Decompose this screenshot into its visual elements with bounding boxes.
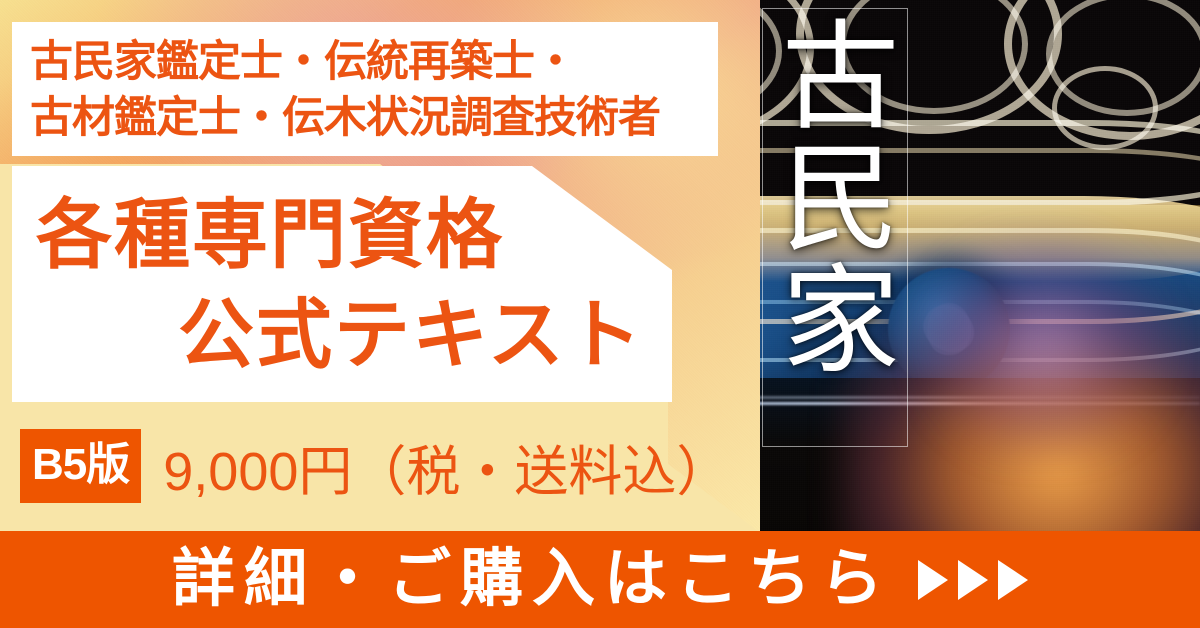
cta-arrow-group [918,560,1028,600]
certifications-panel: 古民家鑑定士・伝統再築士・ 古材鑑定士・伝木状況調査技術者 [12,22,718,156]
size-badge: B5版 [20,429,141,503]
triangle-right-icon [918,560,948,600]
cta-label: 詳細・ご購入はこちら [172,548,892,611]
headline-panel: 各種専門資格 公式テキスト [12,166,672,402]
promo-banner: 古民家 伝統構法 古民家活用のための調査と再生の 古民家鑑定士・伝統再築士・ 古… [0,0,1200,628]
certifications-line-2: 古材鑑定士・伝木状況調査技術者 [30,90,660,146]
cover-title: 古民家 [768,14,900,380]
triangle-right-icon [958,560,988,600]
headline-line-1: 各種専門資格 [36,190,504,282]
price-row: B5版 9,000円（税・送料込） [20,430,730,502]
headline-line-2: 公式テキスト [178,290,644,382]
cta-bar[interactable]: 詳細・ご購入はこちら [0,531,1200,628]
triangle-right-icon [998,560,1028,600]
price-text: 9,000円（税・送料込） [163,427,730,506]
certifications-line-1: 古民家鑑定士・伝統再築士・ [30,34,576,90]
